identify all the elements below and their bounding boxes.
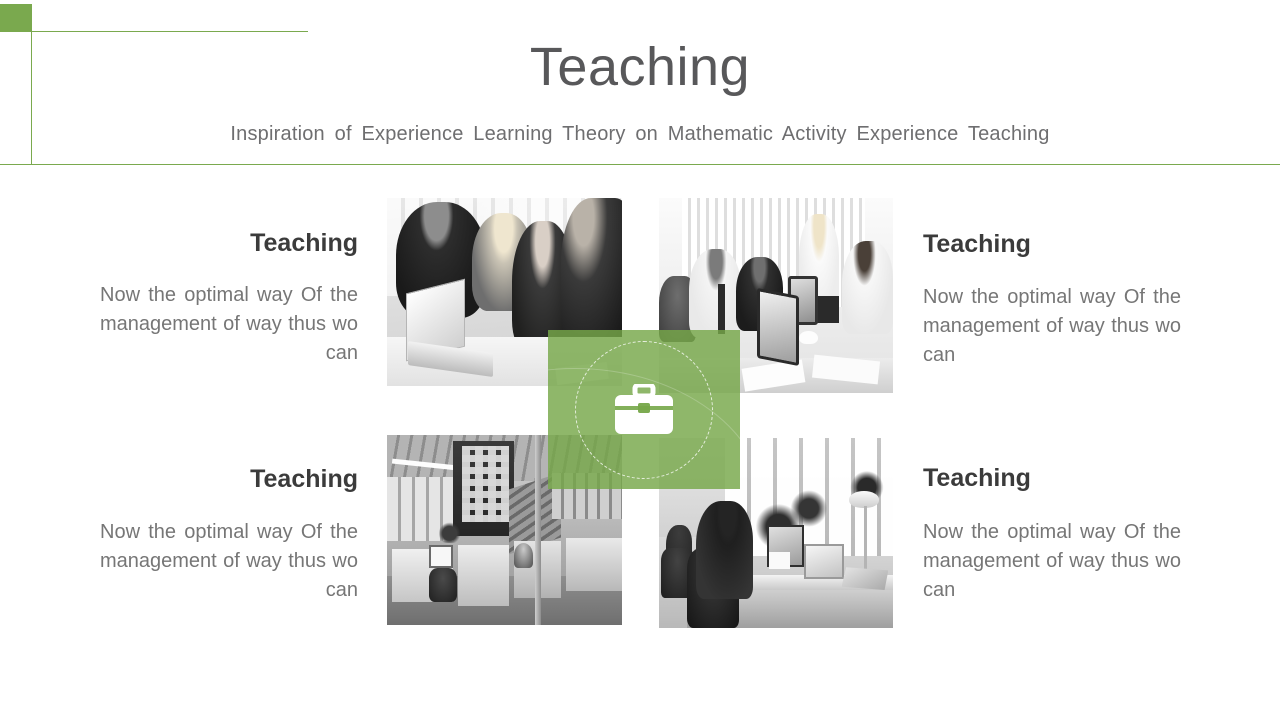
accent-short-horizontal-rule [31,31,308,32]
block-body: Now the optimal way Of the management of… [923,518,1181,606]
block-heading: Teaching [923,465,1181,493]
text-block-top-left: Teaching Now the optimal way Of the mana… [100,230,358,368]
block-body: Now the optimal way Of the management of… [100,281,358,369]
slide-canvas: Teaching Inspiration of Experience Learn… [0,0,1280,720]
block-body: Now the optimal way Of the management of… [100,518,358,606]
center-badge [548,330,740,489]
text-block-bottom-right: Teaching Now the optimal way Of the mana… [923,465,1181,605]
block-heading: Teaching [100,230,358,258]
text-block-bottom-left: Teaching Now the optimal way Of the mana… [100,466,358,605]
page-subtitle: Inspiration of Experience Learning Theor… [0,122,1280,146]
block-heading: Teaching [923,231,1181,259]
accent-square-decoration [0,4,32,32]
page-title: Teaching [0,40,1280,94]
block-heading: Teaching [100,466,358,494]
briefcase-icon [613,384,675,436]
header-divider-rule [0,164,1280,165]
text-block-top-right: Teaching Now the optimal way Of the mana… [923,231,1181,370]
block-body: Now the optimal way Of the management of… [923,283,1181,371]
